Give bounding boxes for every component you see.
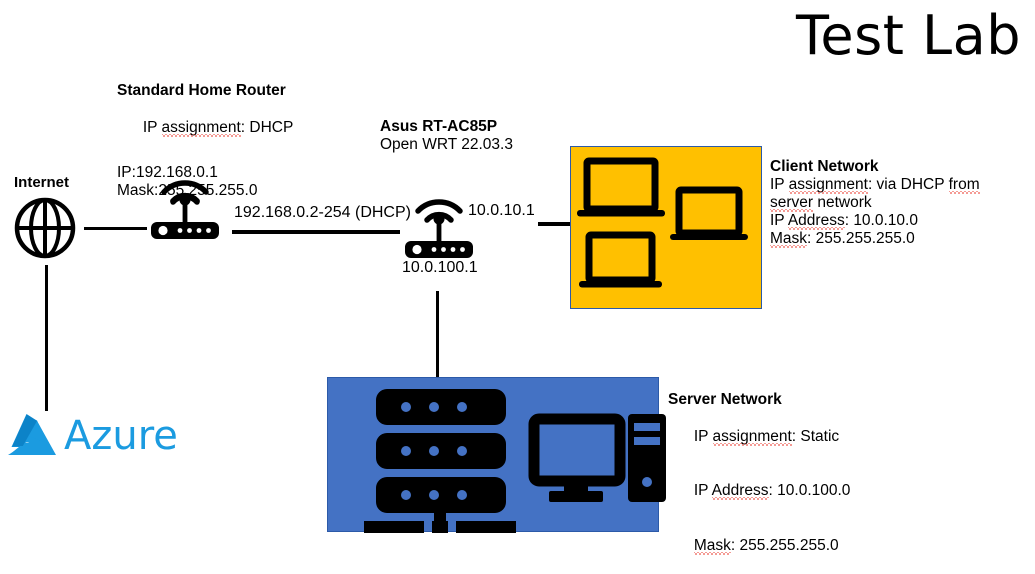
home-router-ip-assignment: IP assignment: DHCP	[117, 100, 347, 155]
client-network-title: Client Network	[770, 158, 1028, 176]
word-from: from	[949, 176, 980, 193]
value-dhcp: : DHCP	[241, 119, 294, 136]
label-ip: IP	[770, 176, 789, 193]
word-assignment: assignment	[162, 119, 241, 136]
server-network-address: IP Address: 10.0.100.0	[668, 464, 928, 519]
word-address: Address	[788, 212, 845, 229]
word-mask: Mask	[770, 230, 807, 247]
edge-asus-to-server-network	[436, 291, 439, 379]
edge-asus-to-client-network	[538, 222, 571, 226]
value-ip-address: : 10.0.10.0	[845, 212, 918, 229]
edge-label-asus-to-client: 10.0.10.1	[468, 202, 535, 221]
server-network-icons	[328, 378, 658, 531]
server-network-title: Server Network	[668, 391, 928, 409]
word-assignment: assignment	[713, 428, 792, 445]
internet-label: Internet	[14, 174, 69, 192]
client-network-assignment-line2: server network	[770, 194, 1028, 212]
client-network-mask: Mask: 255.255.255.0	[770, 230, 1028, 248]
azure-wordmark: Azure	[64, 413, 178, 459]
word-server: server	[770, 194, 813, 211]
client-network-info: Client Network IP assignment: via DHCP f…	[770, 158, 1028, 248]
server-network-box	[327, 377, 659, 532]
desktop-pc-icon	[534, 414, 666, 502]
globe-icon	[13, 196, 77, 260]
server-network-info: Server Network IP assignment: Static IP …	[668, 391, 928, 574]
value-mask: : 255.255.255.0	[731, 537, 839, 554]
edge-internet-to-home-router	[84, 227, 147, 230]
asus-router-firmware: Open WRT 22.03.3	[380, 136, 590, 154]
azure-logo: Azure	[6, 412, 178, 460]
asus-router-info: Asus RT-AC85P Open WRT 22.03.3	[380, 118, 590, 155]
home-router-title: Standard Home Router	[117, 82, 347, 100]
label-ip: IP	[694, 482, 712, 499]
wifi-router-icon-home	[146, 177, 224, 247]
edge-label-asus-lan-ip: 10.0.100.1	[402, 259, 478, 278]
edge-home-router-to-asus	[232, 230, 400, 234]
page-title: Test Lab	[796, 4, 1021, 68]
client-network-assignment: IP assignment: via DHCP from	[770, 176, 1028, 194]
asus-router-title: Asus RT-AC85P	[380, 118, 590, 136]
server-network-mask: Mask: 255.255.255.0	[668, 519, 928, 574]
label-ip: IP	[143, 119, 162, 136]
label-ip: IP	[770, 212, 788, 229]
value-dhcp: : via DHCP	[868, 176, 949, 193]
edge-label-home-to-asus: 192.168.0.2-254 (DHCP)	[234, 204, 411, 223]
wifi-router-icon-asus	[400, 196, 478, 266]
word-mask: Mask	[694, 537, 731, 554]
azure-mark-icon	[6, 412, 60, 460]
value-static: : Static	[792, 428, 839, 445]
word-address: Address	[712, 482, 769, 499]
diagram-canvas: Test Lab Internet Azure Standard Home Ro…	[0, 0, 1035, 559]
client-network-address: IP Address: 10.0.10.0	[770, 212, 1028, 230]
client-network-box	[570, 146, 762, 309]
laptops-icon	[571, 147, 761, 308]
word-network: network	[813, 194, 872, 211]
server-rack-icon	[364, 389, 516, 533]
value-mask: : 255.255.255.0	[807, 230, 915, 247]
word-assignment: assignment	[789, 176, 868, 193]
edge-internet-to-azure	[45, 265, 48, 411]
value-ip-address: : 10.0.100.0	[769, 482, 851, 499]
server-network-assignment: IP assignment: Static	[668, 409, 928, 464]
label-ip: IP	[694, 428, 713, 445]
